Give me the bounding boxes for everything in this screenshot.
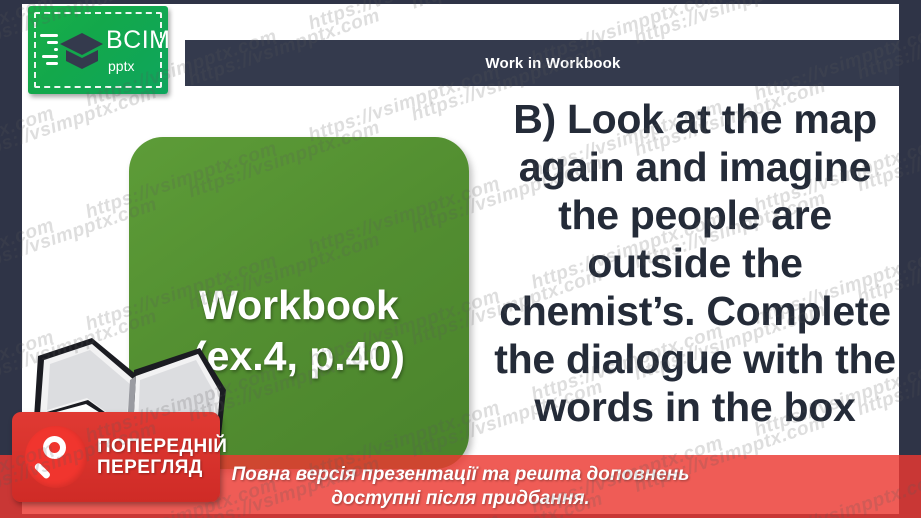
page-title: Work in Workbook — [485, 55, 620, 72]
slide-header-bar: Work in Workbook — [185, 40, 899, 86]
preview-badge-line-2: ПЕРЕГЛЯД — [97, 457, 227, 478]
preview-badge-label: ПОПЕРЕДНІЙ ПЕРЕГЛЯД — [97, 436, 227, 479]
preview-badge[interactable]: ПОПЕРЕДНІЙ ПЕРЕГЛЯД — [12, 412, 220, 502]
magnifier-icon — [25, 426, 87, 488]
bcim-pptx-logo: BCIM pptx — [28, 6, 168, 94]
logo-extension-text: pptx — [108, 59, 168, 73]
purchase-notice-line-2: доступні після придбання. — [331, 487, 590, 511]
graduation-cap-icon — [58, 30, 104, 72]
preview-badge-line-1: ПОПЕРЕДНІЙ — [97, 436, 227, 457]
logo-text: BCIM pptx — [106, 28, 168, 73]
magnifier-handle-icon — [34, 462, 52, 480]
magnifier-glass-icon — [43, 436, 66, 459]
purchase-notice-line-1: Повна версія презентації та решта доповн… — [232, 463, 690, 487]
instruction-text: B) Look at the map again and imagine the… — [490, 96, 899, 432]
logo-brand-text: BCIM — [106, 28, 168, 53]
workbook-title: Workbook — [199, 280, 399, 331]
